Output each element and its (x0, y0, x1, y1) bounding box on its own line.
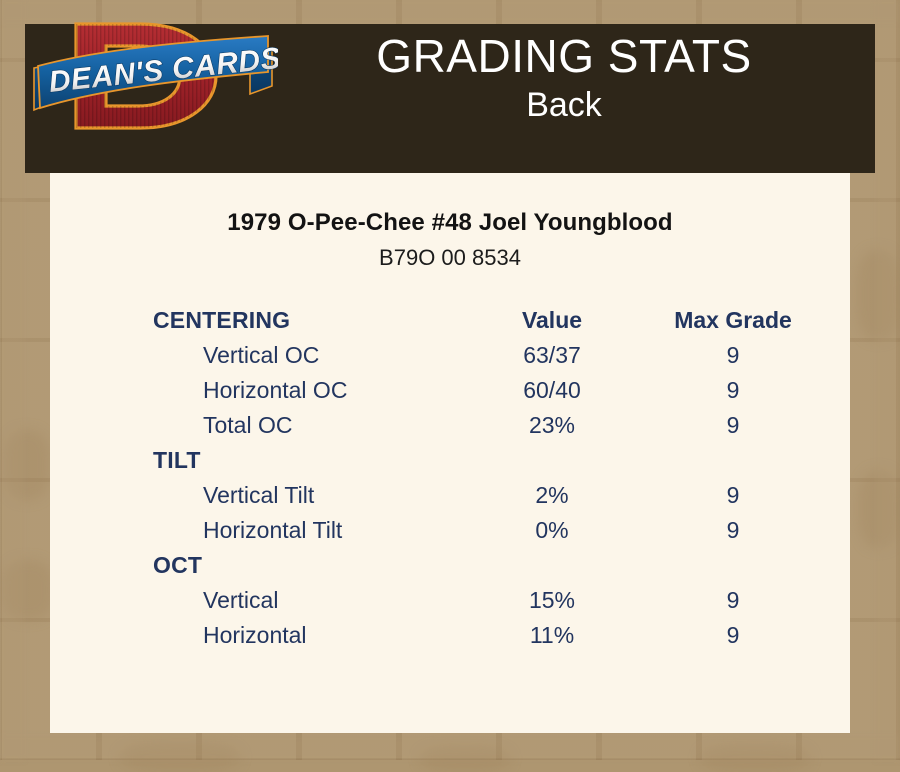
table-row: CENTERING Value Max Grade (50, 303, 850, 338)
row-label: Horizontal (203, 618, 307, 653)
page-subtitle: Back (278, 85, 850, 125)
row-label: Vertical (203, 583, 278, 618)
row-label: Horizontal OC (203, 373, 347, 408)
card-title: 1979 O-Pee-Chee #48 Joel Youngblood (50, 209, 850, 237)
row-label: Horizontal Tilt (203, 513, 342, 548)
column-header-value: Value (482, 303, 622, 338)
row-max-grade: 9 (643, 338, 823, 373)
deans-cards-logo[interactable]: DEAN'S CARDS (28, 6, 278, 146)
row-value: 15% (482, 583, 622, 618)
row-label: Vertical OC (203, 338, 319, 373)
content-panel: 1979 O-Pee-Chee #48 Joel Youngblood B79O… (50, 173, 850, 733)
row-value: 0% (482, 513, 622, 548)
table-row: Total OC 23% 9 (50, 408, 850, 443)
row-max-grade: 9 (643, 408, 823, 443)
column-header-max-grade: Max Grade (643, 303, 823, 338)
row-value: 60/40 (482, 373, 622, 408)
table-row: OCT (50, 548, 850, 583)
section-heading-centering: CENTERING (153, 303, 290, 338)
table-row: Vertical OC 63/37 9 (50, 338, 850, 373)
row-label: Vertical Tilt (203, 478, 314, 513)
logo-banner: DEAN'S CARDS (34, 36, 278, 110)
card-serial: B79O 00 8534 (50, 245, 850, 271)
row-value: 23% (482, 408, 622, 443)
row-label: Total OC (203, 408, 292, 443)
table-row: Horizontal Tilt 0% 9 (50, 513, 850, 548)
row-value: 2% (482, 478, 622, 513)
section-heading-tilt: TILT (153, 443, 201, 478)
table-row: Horizontal OC 60/40 9 (50, 373, 850, 408)
grading-stats-table: CENTERING Value Max Grade Vertical OC 63… (50, 303, 850, 653)
row-max-grade: 9 (643, 513, 823, 548)
row-max-grade: 9 (643, 478, 823, 513)
page-title: GRADING STATS (278, 30, 850, 82)
table-row: Vertical 15% 9 (50, 583, 850, 618)
table-row: Horizontal 11% 9 (50, 618, 850, 653)
section-heading-oct: OCT (153, 548, 202, 583)
row-value: 63/37 (482, 338, 622, 373)
row-max-grade: 9 (643, 583, 823, 618)
table-row: Vertical Tilt 2% 9 (50, 478, 850, 513)
row-max-grade: 9 (643, 618, 823, 653)
row-max-grade: 9 (643, 373, 823, 408)
table-row: TILT (50, 443, 850, 478)
page-root: DEAN'S CARDS GRADING STATS Back 1979 O-P… (0, 0, 900, 760)
row-value: 11% (482, 618, 622, 653)
